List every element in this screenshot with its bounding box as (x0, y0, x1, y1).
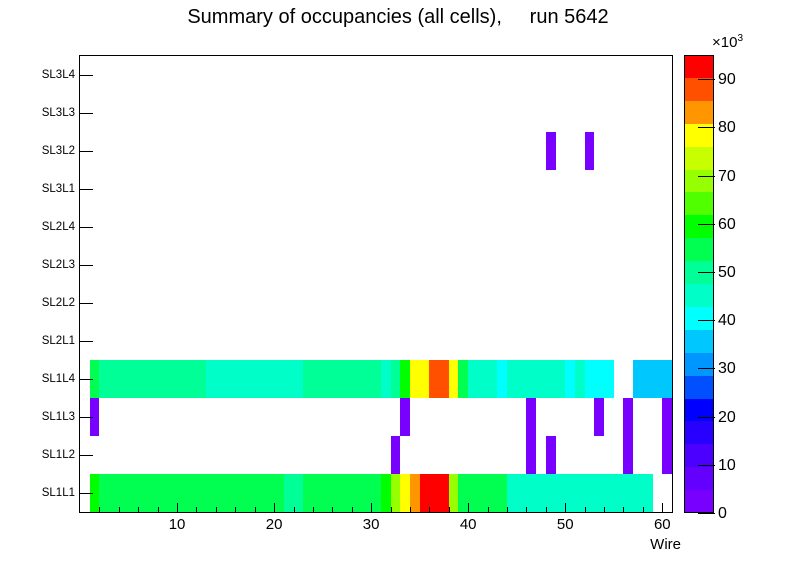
heatmap-cell (410, 474, 420, 512)
heatmap-cell (546, 132, 556, 170)
y-axis-tick (80, 151, 93, 152)
heatmap-cell (623, 398, 633, 436)
heatmap-cell (391, 436, 401, 474)
color-bar-tick (698, 176, 715, 177)
heatmap-cell (565, 360, 575, 398)
color-bar-tick (698, 465, 715, 466)
x-axis-tick (623, 507, 624, 512)
x-axis-tick (468, 503, 469, 512)
color-bar-ticks: 0102030405060708090 (684, 55, 744, 513)
heatmap-cell (410, 360, 420, 398)
y-axis-label-sl1l4: SL1L4 (42, 373, 75, 385)
x-axis-tick-label: 20 (266, 516, 283, 533)
y-axis-tick (80, 265, 93, 266)
heatmap-cell (507, 360, 565, 398)
multiplier-base: ×10 (712, 34, 737, 51)
heatmap-cell (391, 474, 401, 512)
x-axis-tick-label: 30 (363, 516, 380, 533)
heatmap-cell (303, 474, 381, 512)
y-axis-tick (80, 417, 93, 418)
x-axis-tick (255, 507, 256, 512)
x-axis-tick (371, 503, 372, 512)
x-axis-tick (216, 507, 217, 512)
color-bar-tick (698, 127, 715, 128)
y-axis-label-sl2l4: SL2L4 (42, 221, 75, 233)
heatmap-cell (623, 436, 633, 474)
color-bar-tick (698, 417, 715, 418)
color-bar-tick (698, 320, 715, 321)
x-axis-tick (294, 507, 295, 512)
x-axis-tick (274, 503, 275, 512)
x-axis-tick (332, 507, 333, 512)
heatmap-cell (585, 360, 614, 398)
y-axis-tick (80, 455, 93, 456)
heatmap-cell (662, 398, 672, 436)
x-axis-tick (546, 507, 547, 512)
color-bar-tick-label: 20 (718, 409, 736, 427)
y-axis-label-sl3l4: SL3L4 (42, 69, 75, 81)
y-axis-label-sl2l1: SL2L1 (42, 335, 75, 347)
x-axis-tick (119, 507, 120, 512)
heatmap-cell (99, 474, 283, 512)
heatmap-cell (497, 360, 507, 398)
heatmap-cell (449, 474, 459, 512)
x-axis-tick (391, 507, 392, 512)
color-bar-tick-label: 70 (718, 168, 736, 186)
color-bar-tick-label: 90 (718, 71, 736, 89)
x-axis-title: Wire (0, 536, 681, 553)
heatmap-cell (449, 360, 459, 398)
x-axis-tick-label: 60 (654, 516, 671, 533)
color-bar-tick (698, 513, 715, 514)
heatmap-cell (206, 360, 303, 398)
heatmap-cell (458, 360, 468, 398)
x-axis-tick (410, 507, 411, 512)
color-bar-tick (698, 79, 715, 80)
y-axis-label-sl1l3: SL1L3 (42, 411, 75, 423)
heatmap-cell (594, 398, 604, 436)
x-axis-tick (429, 507, 430, 512)
x-axis-tick (177, 503, 178, 512)
plot-frame (79, 55, 673, 513)
color-bar-tick-label: 30 (718, 360, 736, 378)
heatmap-cell (99, 360, 206, 398)
x-axis-tick (99, 507, 100, 512)
heatmap-cell (653, 474, 663, 512)
x-axis-tick (565, 503, 566, 512)
x-axis-tick (526, 507, 527, 512)
x-axis-tick (196, 507, 197, 512)
x-axis-tick (585, 507, 586, 512)
y-axis-label-sl2l3: SL2L3 (42, 259, 75, 271)
heatmap-cell (381, 474, 391, 512)
heatmap-cell (303, 360, 381, 398)
heatmap-cells (80, 56, 672, 512)
heatmap-cell (400, 474, 410, 512)
color-bar-tick-label: 80 (718, 119, 736, 137)
x-axis-tick (138, 507, 139, 512)
x-axis-tick (449, 507, 450, 512)
y-axis-tick (80, 113, 93, 114)
y-axis-tick (80, 303, 93, 304)
color-bar-multiplier: ×103 (712, 33, 743, 51)
x-axis-tick (507, 507, 508, 512)
y-axis-label-sl3l2: SL3L2 (42, 145, 75, 157)
heatmap-cell (575, 360, 585, 398)
multiplier-exponent: 3 (737, 33, 743, 44)
y-axis-tick (80, 341, 93, 342)
x-axis-tick (352, 507, 353, 512)
heatmap-cell (633, 360, 672, 398)
y-axis-tick (80, 493, 93, 494)
x-axis-tick (488, 507, 489, 512)
x-axis-tick-label: 50 (557, 516, 574, 533)
x-axis-tick (643, 507, 644, 512)
heatmap-cell (526, 398, 536, 436)
color-bar-tick (698, 224, 715, 225)
heatmap-cell (391, 360, 401, 398)
y-axis-tick (80, 75, 93, 76)
y-axis-label-sl3l3: SL3L3 (42, 107, 75, 119)
color-bar-tick (698, 272, 715, 273)
color-bar-tick-label: 10 (718, 457, 736, 475)
x-axis-tick (662, 503, 663, 512)
y-axis-tick (80, 227, 93, 228)
heatmap-cell (420, 474, 449, 512)
x-axis-tick-label: 40 (460, 516, 477, 533)
color-bar-tick (698, 368, 715, 369)
x-axis-tick (313, 507, 314, 512)
heatmap-cell (546, 436, 556, 474)
heatmap-cell (429, 360, 448, 398)
x-axis-tick (235, 507, 236, 512)
heatmap-cell (468, 360, 497, 398)
heatmap-cell (400, 398, 410, 436)
heatmap-cell (526, 436, 536, 474)
heatmap-cell (614, 360, 633, 398)
x-axis-tick (158, 507, 159, 512)
y-axis-label-sl2l2: SL2L2 (42, 297, 75, 309)
color-bar-tick-label: 60 (718, 216, 736, 234)
heatmap-cell (458, 474, 507, 512)
y-axis-labels: SL1L1SL1L2SL1L3SL1L4SL2L1SL2L2SL2L3SL2L4… (0, 55, 75, 513)
heatmap-cell (420, 360, 430, 398)
y-axis-label-sl3l1: SL3L1 (42, 183, 75, 195)
color-bar-tick-label: 50 (718, 264, 736, 282)
x-axis-tick (604, 507, 605, 512)
y-axis-tick (80, 379, 93, 380)
x-axis-tick-label: 10 (169, 516, 186, 533)
heatmap-cell (662, 436, 672, 474)
heatmap-cell (585, 132, 595, 170)
y-axis-label-sl1l1: SL1L1 (42, 487, 75, 499)
y-axis-tick (80, 189, 93, 190)
root-canvas: Summary of occupancies (all cells), run … (0, 0, 796, 572)
color-bar-tick-label: 0 (718, 505, 727, 523)
color-bar-tick-label: 40 (718, 312, 736, 330)
heatmap-cell (381, 360, 391, 398)
heatmap-cell (400, 360, 410, 398)
page-title: Summary of occupancies (all cells), run … (0, 6, 796, 29)
y-axis-label-sl1l2: SL1L2 (42, 449, 75, 461)
